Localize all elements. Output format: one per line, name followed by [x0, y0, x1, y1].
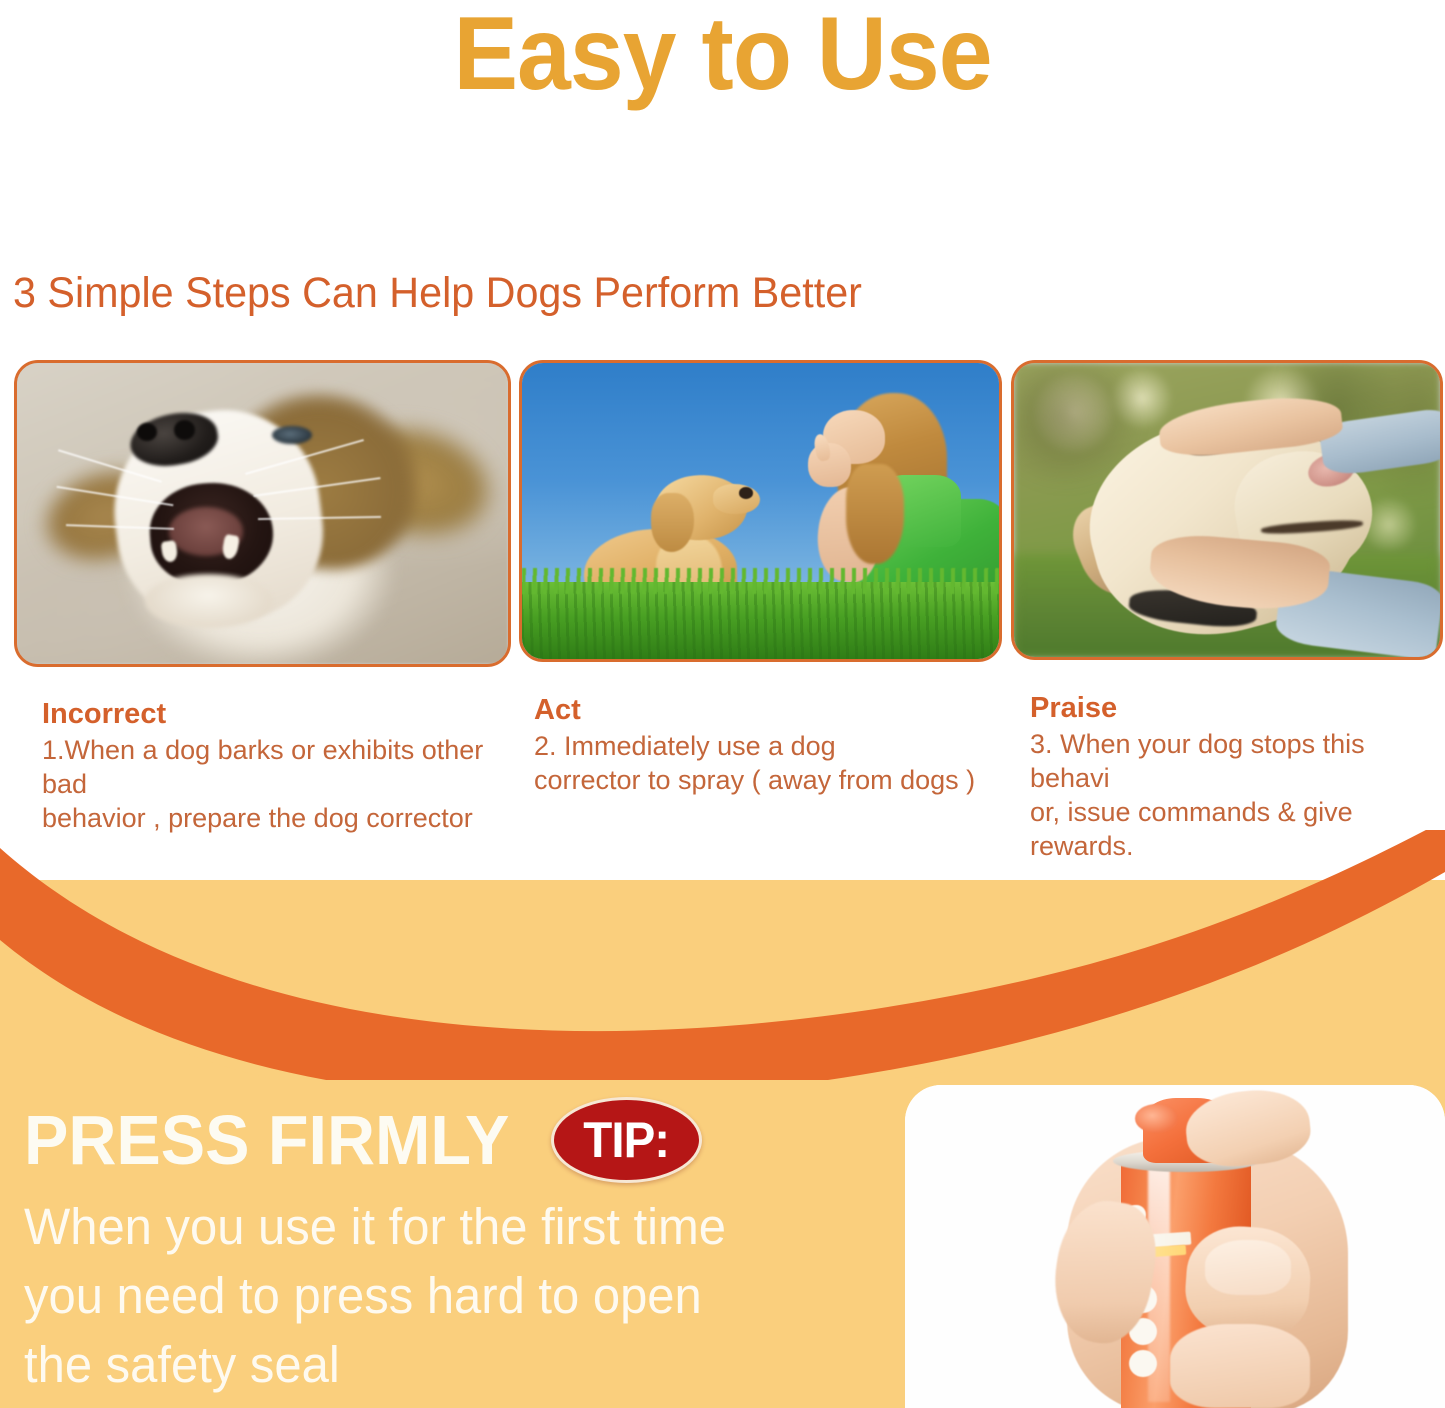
step-text-incorrect: 1.When a dog barks or exhibits other bad…: [42, 733, 511, 835]
step-card-praise: Praise 3. When your dog stops this behav…: [1011, 360, 1443, 820]
step-heading-praise: Praise: [1030, 692, 1443, 724]
tip-body-text: When you use it for the first time you n…: [24, 1192, 821, 1399]
steps-row: Incorrect 1.When a dog barks or exhibits…: [0, 360, 1445, 820]
step-card-incorrect: Incorrect 1.When a dog barks or exhibits…: [14, 360, 511, 820]
barking-dog-photo: [17, 363, 508, 664]
page-title: Easy to Use: [51, 0, 1395, 110]
petting-dog-photo: [1014, 363, 1440, 657]
step-heading-act: Act: [534, 694, 975, 726]
step-heading-incorrect: Incorrect: [42, 698, 511, 730]
wave-divider: [0, 830, 1445, 1080]
wave-divider-svg: [0, 830, 1445, 1080]
step-text-act: 2. Immediately use a dog corrector to sp…: [534, 729, 975, 797]
press-firmly-headline: PRESS FIRMLY: [24, 1103, 509, 1177]
step-caption-2: Act 2. Immediately use a dog corrector t…: [534, 694, 975, 797]
step-photo-frame-1: [14, 360, 511, 667]
woman-training-dog-photo: [522, 363, 999, 659]
step-card-act: Act 2. Immediately use a dog corrector t…: [519, 360, 1002, 820]
section-subtitle: 3 Simple Steps Can Help Dogs Perform Bet…: [13, 268, 862, 318]
product-photo-panel: [905, 1085, 1445, 1408]
step-photo-frame-3: [1011, 360, 1443, 660]
instructions-section: Easy to Use 3 Simple Steps Can Help Dogs…: [0, 0, 1445, 880]
hand-holding-spray-can-photo: [905, 1085, 1445, 1408]
tip-badge: TIP:: [551, 1097, 702, 1183]
press-firmly-row: PRESS FIRMLY TIP:: [24, 1102, 854, 1178]
step-photo-frame-2: [519, 360, 1002, 662]
tip-text-column: PRESS FIRMLY TIP: When you use it for th…: [24, 1102, 854, 1399]
step-caption-1: Incorrect 1.When a dog barks or exhibits…: [42, 698, 511, 835]
tip-badge-label: TIP:: [583, 1114, 669, 1166]
